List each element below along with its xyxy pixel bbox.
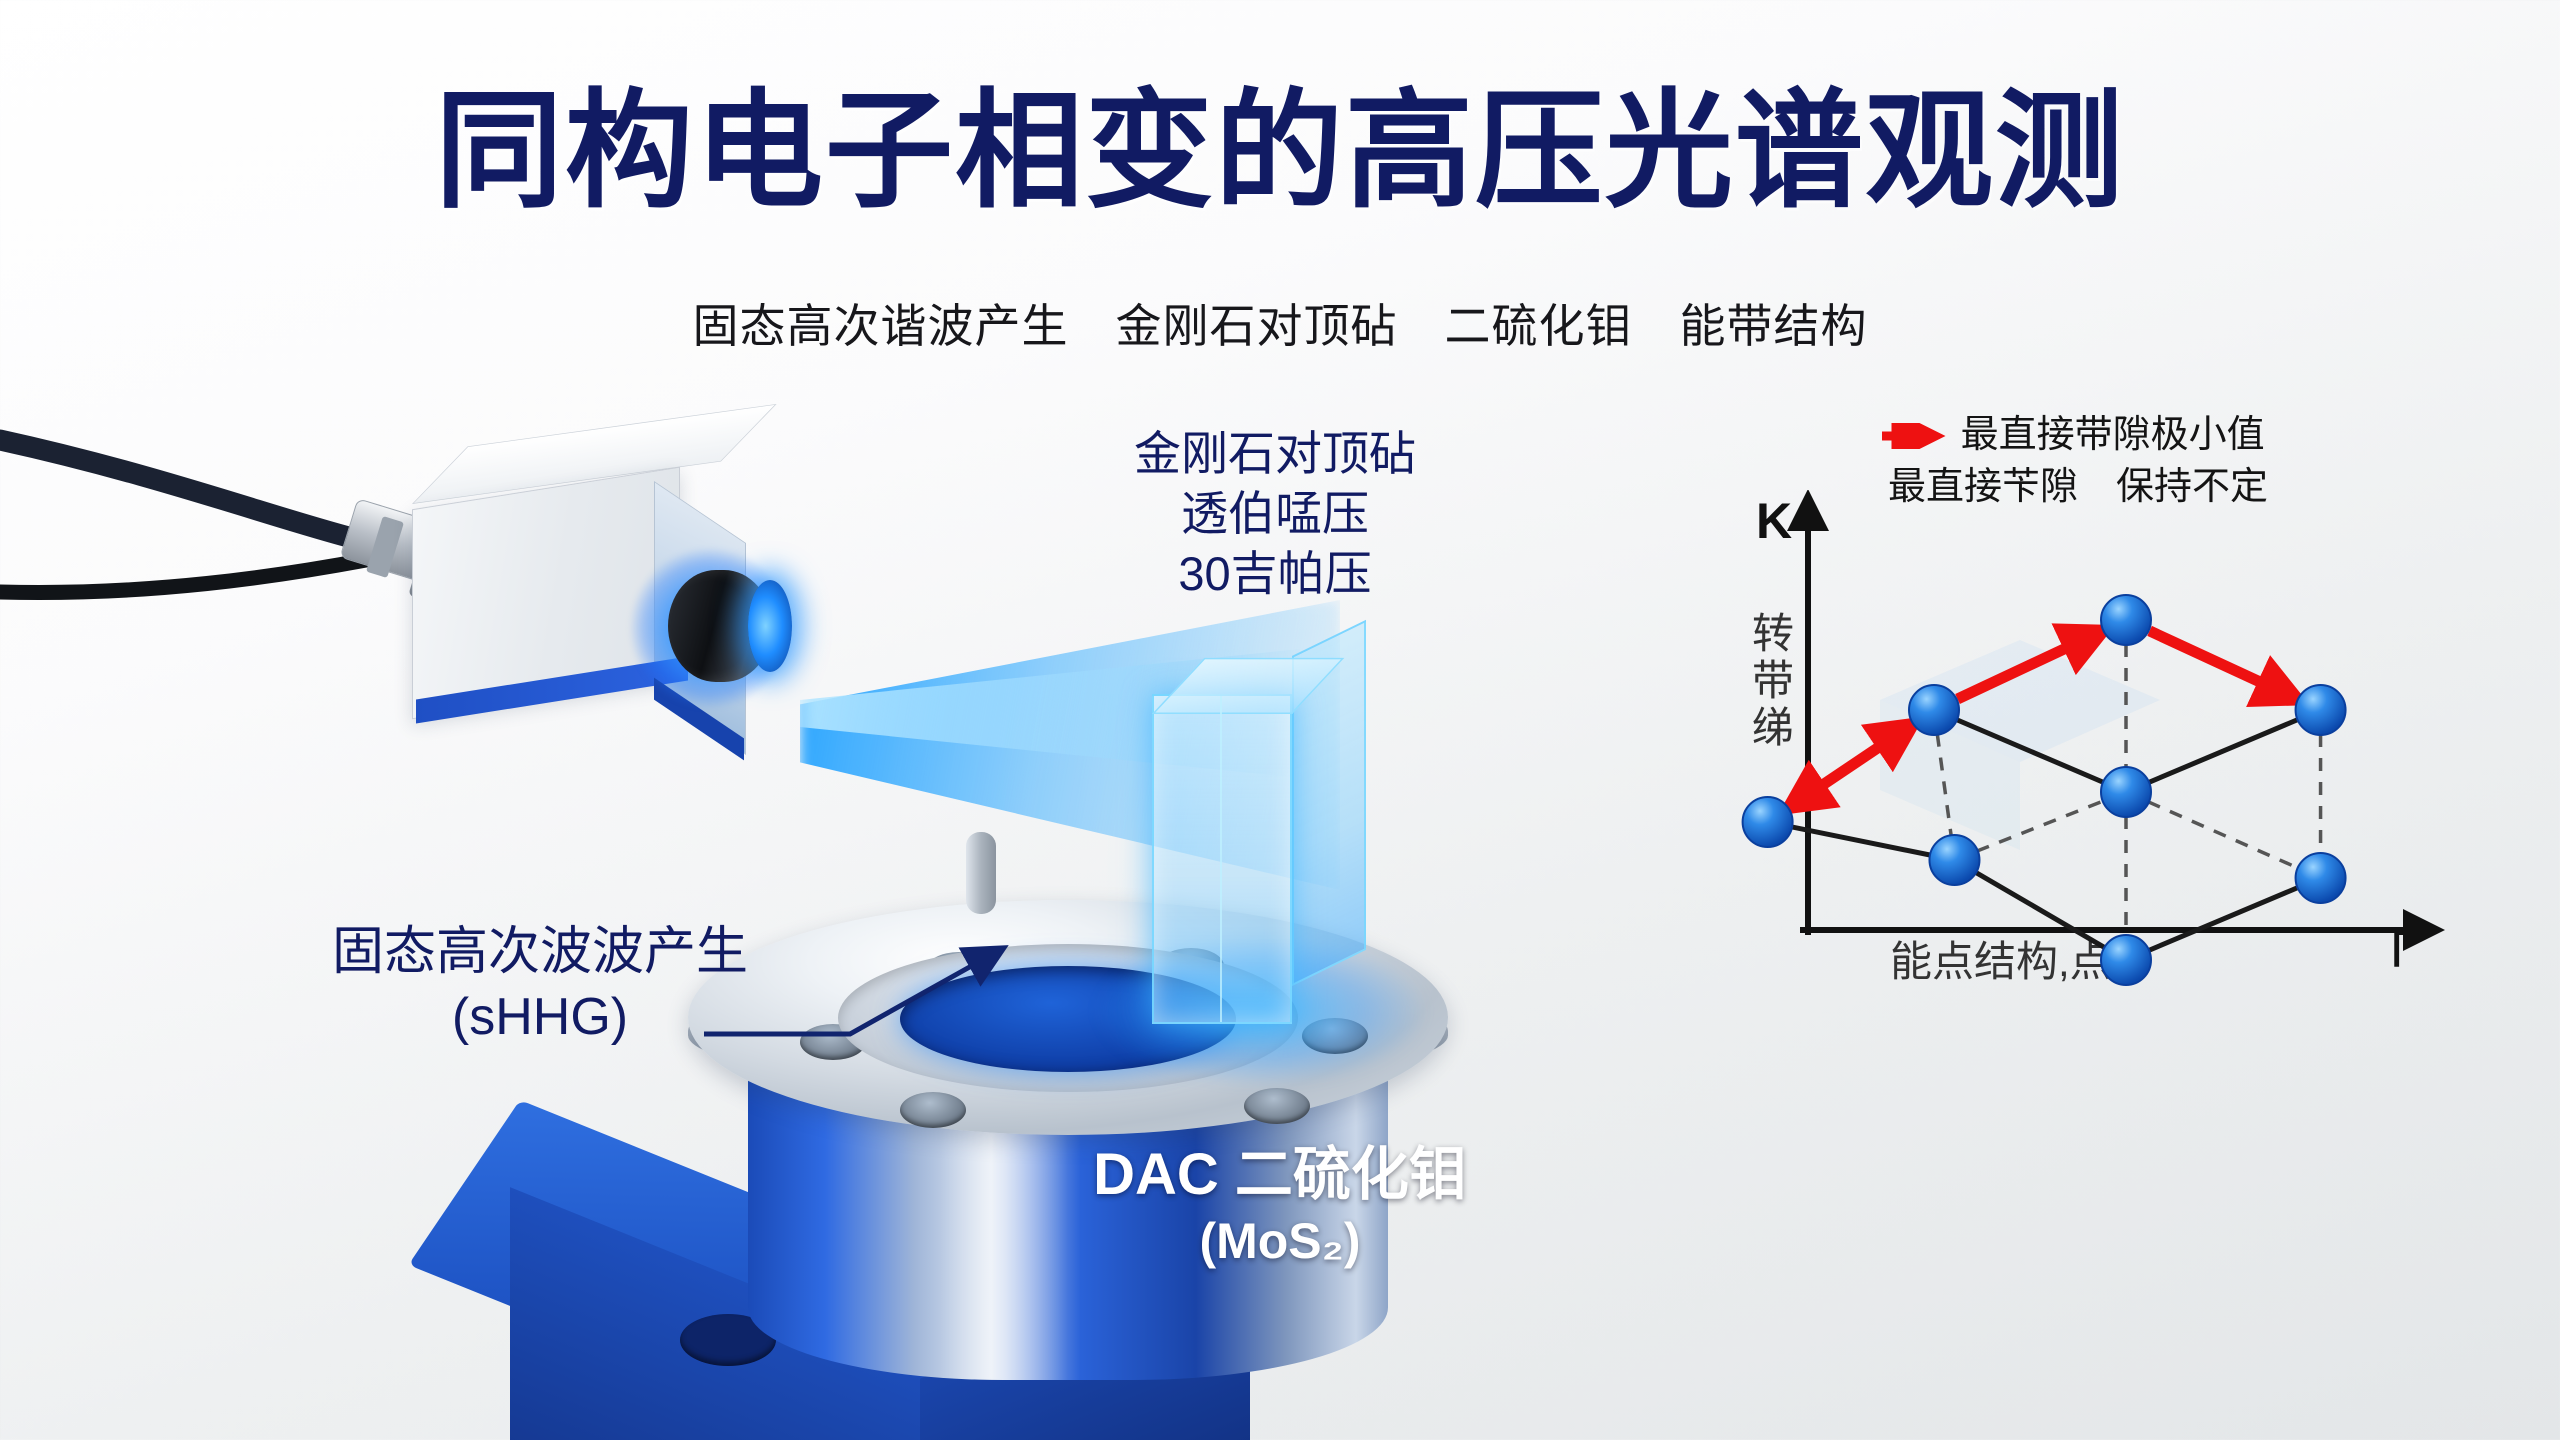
legend-row-1: 最直接带隙极小值 [1880,410,2440,462]
lattice-bond-dashed [2126,792,2321,878]
page-title: 同构电子相变的高压光谱观测 [0,88,2560,216]
dac-callout-line3: 30吉帕压 [1095,544,1455,604]
reciprocal-lattice-plot [1690,490,2470,990]
lens-aperture [748,580,792,672]
lattice-node [2296,853,2346,903]
diamond-anvil-crystal [1152,636,1372,1036]
dac-pressure-callout: 金刚石对顶砧 透伯𠵼压 30吉帕压 [1095,424,1455,604]
band-structure-diagram: 最直接带隙极小值 最直接苄隙 保持不定 K 转带绨 能点结构,点 Γ [1690,410,2470,1030]
lattice-node [2101,595,2151,645]
crystal-inner-edge [1220,696,1222,1022]
lattice-node [2101,935,2151,985]
lattice-node [1929,835,1979,885]
dac-sample-label-line2: (MoS₂) [1020,1211,1540,1272]
subtitle-keywords: 固态高次谐波产生 金刚石对顶砧 二硫化钼 能带结构 [0,290,2560,356]
lattice-bond-solid [2126,878,2321,960]
dac-sample-label-line1: DAC 二硫化钼 [1020,1140,1540,1211]
alignment-pin [966,832,996,914]
dac-callout-line1: 金刚石对顶砧 [1095,424,1455,484]
lattice-bond-solid [1768,822,1955,860]
shhg-leader-line [700,930,1160,1100]
legend-text-1: 最直接带隙极小值 [1961,414,2265,456]
lattice-node [1909,685,1959,735]
laser-source-device [300,440,880,790]
red-arrow-icon [1880,423,1950,449]
lattice-node [2101,767,2151,817]
flange-bolt-hole [1244,1088,1310,1124]
lattice-bond-solid [1954,860,2126,960]
lattice-node [1743,797,1793,847]
infographic-canvas: 同构电子相变的高压光谱观测 固态高次谐波产生 金刚石对顶砧 二硫化钼 能带结构 … [0,0,2560,1440]
lattice-bond-solid [2126,710,2321,792]
lattice-red-arrow [2150,631,2297,699]
dac-sample-label: DAC 二硫化钼 (MoS₂) [1020,1140,1540,1272]
crystal-front-face [1152,694,1292,1024]
lattice-node [2296,685,2346,735]
dac-callout-line2: 透伯𠵼压 [1095,484,1455,544]
